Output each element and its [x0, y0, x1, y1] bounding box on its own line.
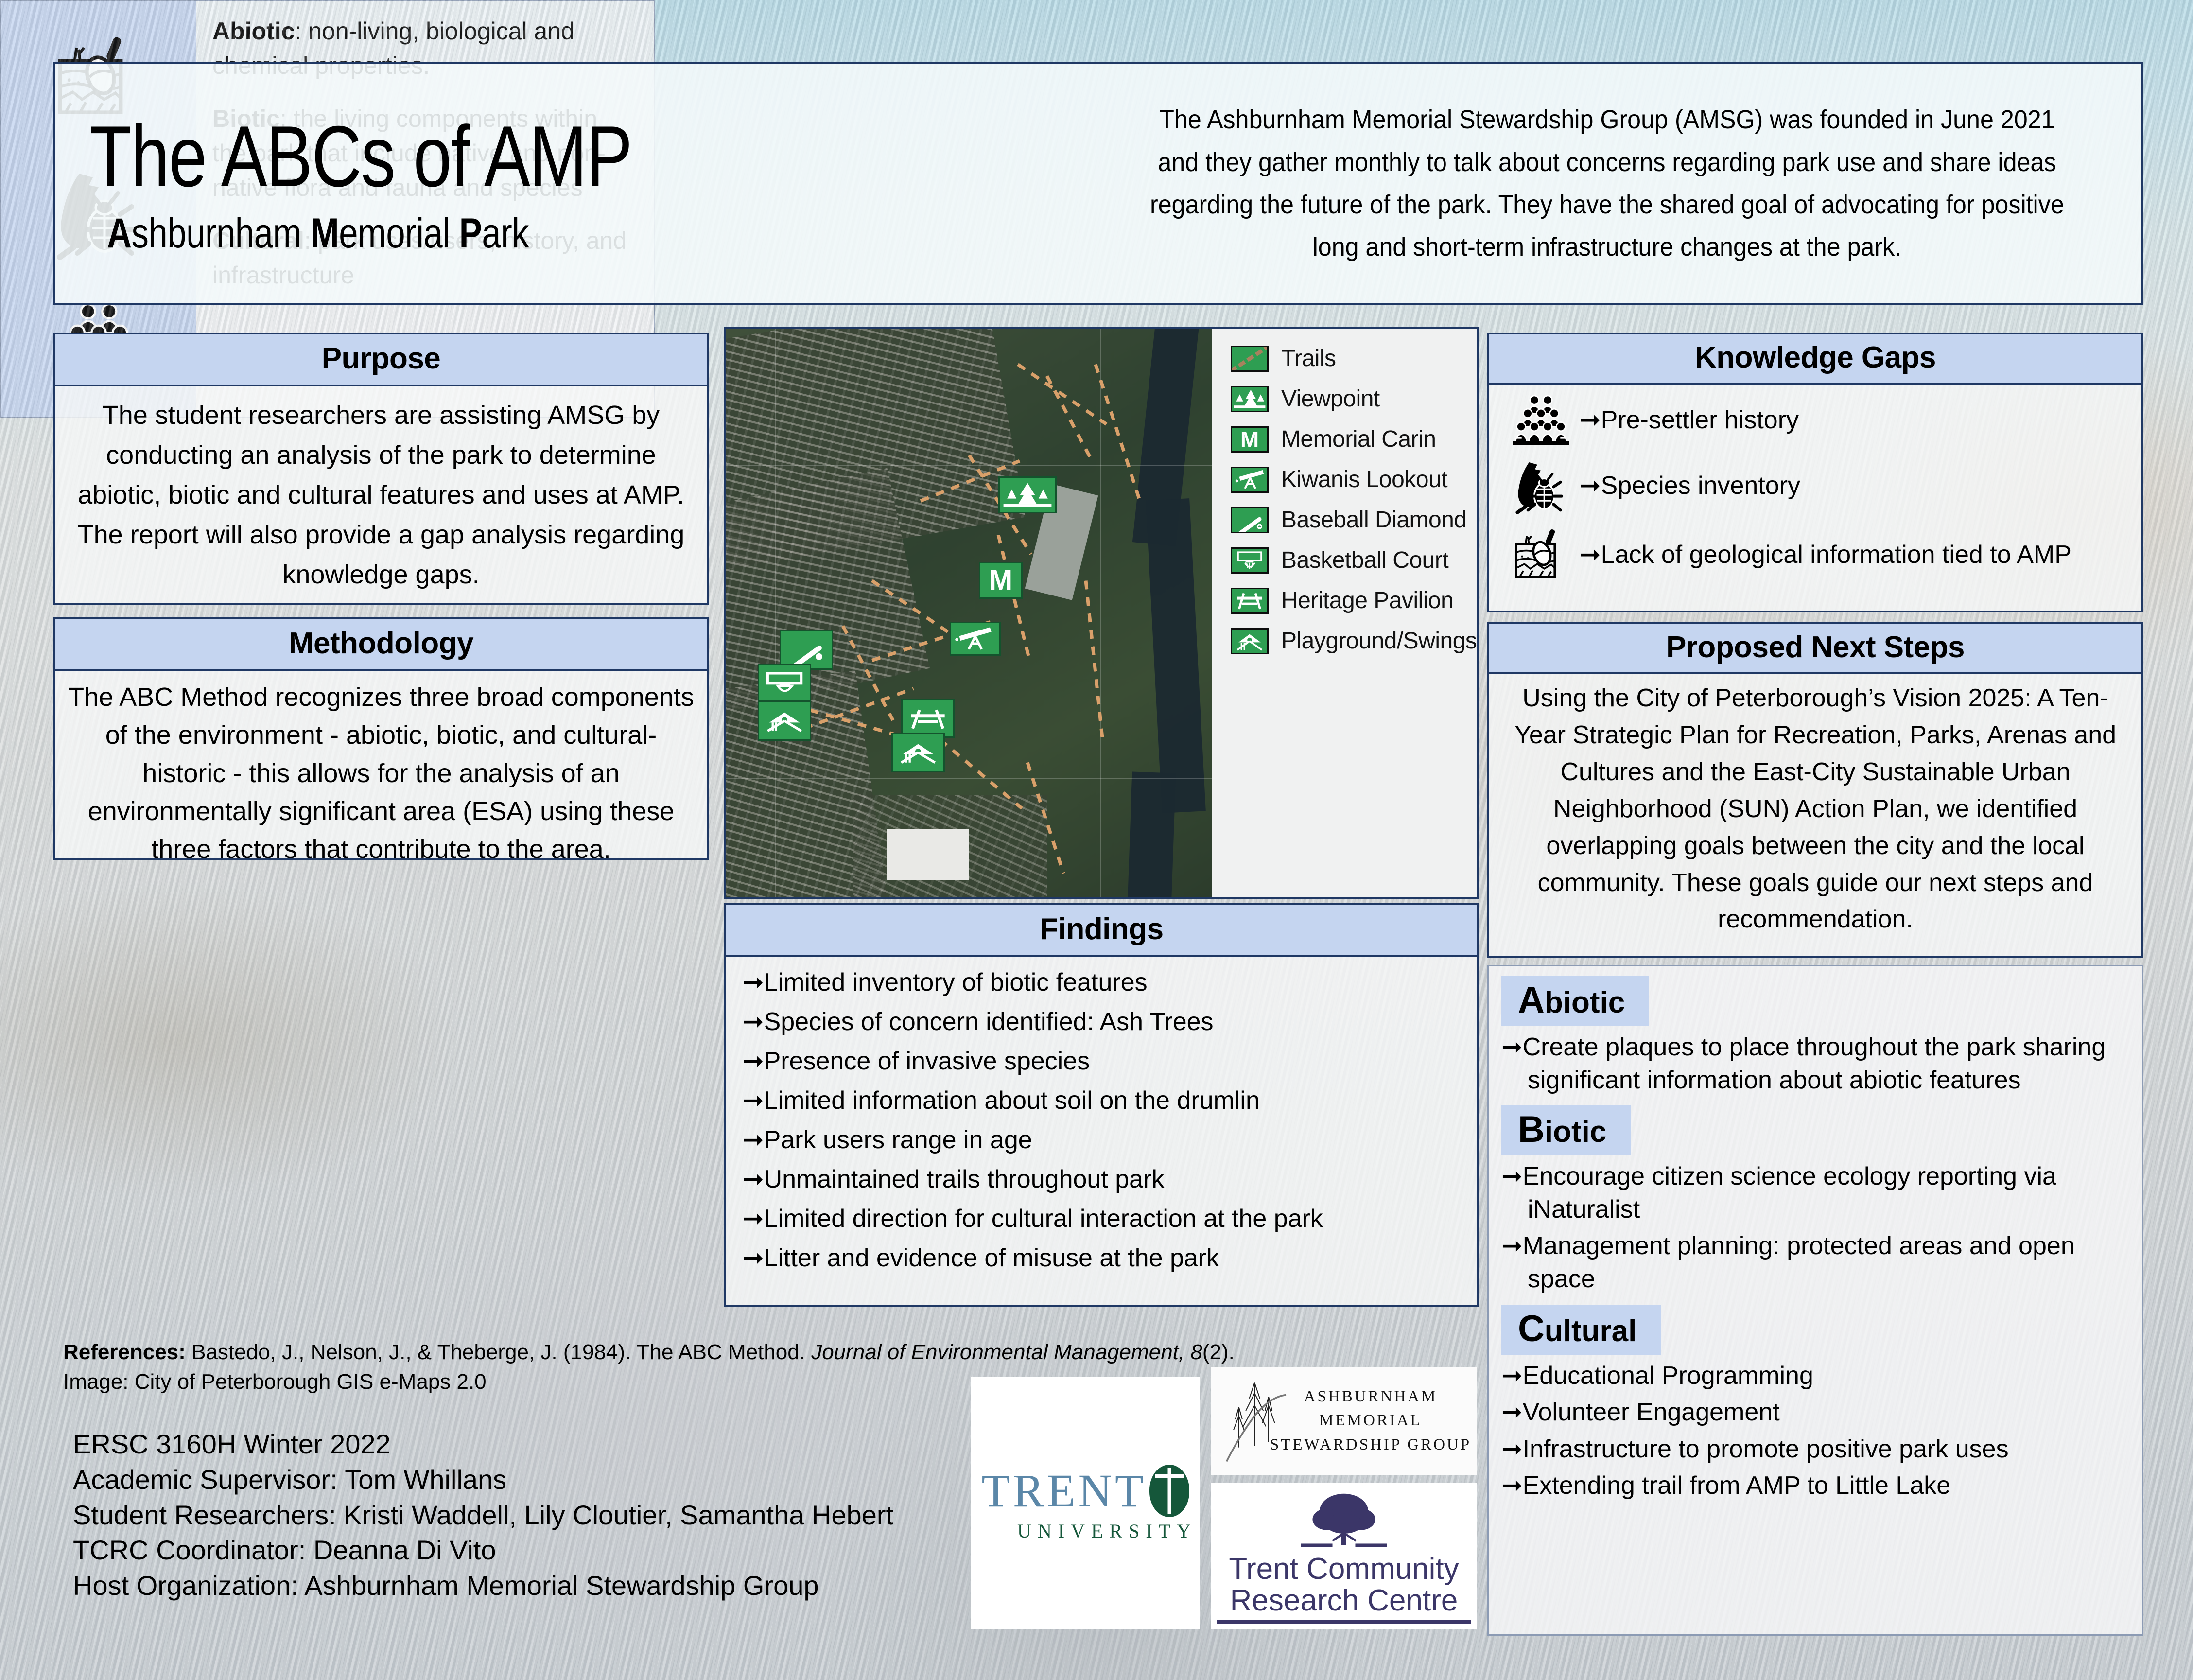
finding-text: Limited direction for cultural interacti… [764, 1205, 1323, 1233]
trent-logo-wordmark: TRENT [981, 1464, 1189, 1518]
reference-citation: References: Bastedo, J., Nelson, J., & T… [63, 1338, 1375, 1367]
list-item: ➞Park users range in age [743, 1127, 1461, 1153]
knowledge-gap-label: Species inventory [1601, 472, 1800, 500]
legend-label: Kiwanis Lookout [1281, 466, 1447, 493]
credit-line-supervisor: Academic Supervisor: Tom Whillans [73, 1462, 1069, 1498]
findings-title: Findings [726, 905, 1477, 957]
list-item: ➞Species of concern identified: Ash Tree… [743, 1009, 1461, 1034]
amsg-logo-text: ASHBURNHAM MEMORIAL STEWARDSHIP GROUP [1265, 1385, 1477, 1457]
findings-list: ➞Limited inventory of biotic features ➞S… [726, 957, 1477, 1271]
map-school-building [887, 829, 969, 880]
tcrc-logo: Trent Community Research Centre [1211, 1483, 1477, 1629]
tcrc-rule [1217, 1620, 1471, 1624]
playground-swing-icon [1231, 628, 1269, 654]
list-item: ➞Extending trail from AMP to Little Lake [1501, 1470, 2129, 1503]
legend-label: Baseball Diamond [1281, 507, 1467, 533]
map-marker-kiwanis-lookout[interactable] [950, 622, 1001, 656]
recommendation-list-biotic: ➞Encourage citizen science ecology repor… [1501, 1160, 2129, 1295]
badge-capital: C [1518, 1308, 1545, 1349]
credit-line-host: Host Organization: Ashburnham Memorial S… [73, 1568, 1069, 1604]
badge-capital: B [1518, 1109, 1545, 1150]
legend-item-kiwanis-lookout: Kiwanis Lookout [1231, 466, 1477, 493]
telescope-icon [1231, 467, 1269, 493]
list-item: ➞Limited inventory of biotic features [743, 970, 1461, 995]
map-gridline [775, 329, 776, 897]
soil-sample-icon [1502, 525, 1580, 584]
knowledge-gap-text: ➞Species inventory [1580, 469, 1800, 503]
amsg-logo: ASHBURNHAM MEMORIAL STEWARDSHIP GROUP [1211, 1367, 1477, 1475]
map-trail [1084, 580, 1105, 745]
knowledge-gap-item: ➞Species inventory [1502, 456, 2129, 515]
status-badge-biotic: Biotic [1501, 1105, 1631, 1155]
finding-text: Litter and evidence of misuse at the par… [764, 1244, 1219, 1272]
recommendation-text: Management planning: protected areas and… [1523, 1232, 2075, 1293]
map-marker-playground-swings[interactable] [758, 701, 811, 741]
tcrc-line-2: Research Centre [1229, 1585, 1459, 1616]
purpose-body: The student researchers are assisting AM… [55, 386, 707, 603]
knowledge-gap-item: ➞Pre-settler history [1502, 394, 2129, 446]
list-item: ➞Encourage citizen science ecology repor… [1501, 1160, 2129, 1226]
map-marker-playground-swings[interactable] [891, 733, 945, 772]
tcrc-logo-text: Trent Community Research Centre [1229, 1554, 1459, 1616]
trent-logo-text: TRENT [981, 1464, 1146, 1518]
purpose-panel: Purpose The student researchers are assi… [53, 332, 709, 605]
list-item: ➞Litter and evidence of misuse at the pa… [743, 1245, 1461, 1271]
list-item: ➞Limited direction for cultural interact… [743, 1206, 1461, 1231]
recommendation-text: Create plaques to place throughout the p… [1523, 1033, 2106, 1094]
list-item: ➞Limited information about soil on the d… [743, 1088, 1461, 1113]
map-legend: Trails Viewpoint M Memorial Carin [1212, 329, 1477, 897]
map-gridline [726, 465, 1212, 466]
finding-text: Limited information about soil on the dr… [764, 1086, 1260, 1115]
knowledge-gap-text: ➞Lack of geological information tied to … [1580, 538, 2071, 572]
basketball-hoop-icon [1231, 547, 1269, 574]
legend-label: Trails [1281, 345, 1336, 372]
finding-text: Park users range in age [764, 1126, 1032, 1154]
map-marker-basketball-court[interactable] [758, 664, 811, 701]
legend-item-memorial-carin: M Memorial Carin [1231, 426, 1477, 453]
methodology-panel: Methodology The ABC Method recognizes th… [53, 617, 709, 860]
subtitle-word-memorial: emorial [339, 210, 459, 257]
legend-label: Basketball Court [1281, 547, 1448, 574]
subtitle-word-park: ark [482, 210, 529, 257]
knowledge-gaps-panel: Knowledge Gaps [1487, 332, 2143, 612]
next-steps-body: Using the City of Peterborough’s Vision … [1489, 674, 2141, 944]
park-map-panel: M [724, 327, 1479, 899]
citation-journal: Journal of Environmental Management, 8 [811, 1340, 1202, 1364]
satellite-map-image: M [726, 329, 1212, 897]
knowledge-gaps-title: Knowledge Gaps [1489, 334, 2141, 385]
beetle-leaf-icon [1502, 456, 1580, 515]
trail-dash-icon [1231, 346, 1269, 372]
legend-item-basketball-court: Basketball Court [1231, 547, 1477, 574]
next-steps-title: Proposed Next Steps [1489, 624, 2141, 674]
legend-item-baseball-diamond: Baseball Diamond [1231, 507, 1477, 533]
title-block: The ABCs of AMP Ashburnham Memorial Park [55, 113, 1091, 254]
credit-line-course: ERSC 3160H Winter 2022 [73, 1427, 1069, 1462]
finding-text: Limited inventory of biotic features [764, 968, 1148, 997]
recommendation-list-cultural: ➞Educational Programming ➞Volunteer Enga… [1501, 1360, 2129, 1503]
references-label: References: [63, 1340, 186, 1364]
knowledge-gaps-body: ➞Pre-settler history ➞Species inventory [1489, 385, 2141, 584]
legend-item-heritage-pavilion: Heritage Pavilion [1231, 587, 1477, 614]
finding-text: Species of concern identified: Ash Trees [764, 1008, 1214, 1036]
trent-logo-subtext: UNIVERSITY [1017, 1520, 1197, 1542]
findings-panel: Findings ➞Limited inventory of biotic fe… [724, 903, 1479, 1307]
map-gridline [726, 778, 1212, 779]
citation-part-a: Bastedo, J., Nelson, J., & Theberge, J. … [186, 1340, 811, 1364]
trees-viewpoint-icon [1231, 386, 1269, 412]
knowledge-gap-item: ➞Lack of geological information tied to … [1502, 525, 2129, 584]
subtitle-cap-m: M [311, 210, 339, 257]
tcrc-tree-icon [1300, 1489, 1388, 1554]
list-item: ➞Create plaques to place throughout the … [1501, 1031, 2129, 1097]
baseball-bat-icon [1231, 507, 1269, 533]
badge-rest: ultural [1545, 1314, 1636, 1348]
map-marker-viewpoint[interactable] [998, 476, 1057, 513]
map-trail [1045, 375, 1094, 462]
next-steps-panel: Proposed Next Steps Using the City of Pe… [1487, 622, 2143, 958]
list-item: ➞Volunteer Engagement [1501, 1396, 2129, 1429]
list-item: ➞Educational Programming [1501, 1360, 2129, 1393]
credits-block: ERSC 3160H Winter 2022 Academic Supervis… [73, 1427, 1069, 1604]
methodology-body: The ABC Method recognizes three broad co… [55, 671, 707, 875]
legend-label: Heritage Pavilion [1281, 587, 1453, 614]
recommendation-text: Volunteer Engagement [1523, 1398, 1780, 1426]
logo-strip: TRENT UNIVERSITY ASHBURNHAM MEMORIAL STE… [971, 1367, 1477, 1629]
status-badge-cultural: Cultural [1501, 1305, 1661, 1355]
map-trail [1017, 363, 1107, 426]
credit-line-researchers: Student Researchers: Kristi Waddell, Lil… [73, 1498, 1069, 1533]
map-river [1146, 498, 1206, 813]
finding-text: Unmaintained trails throughout park [764, 1165, 1165, 1193]
amsg-pine-trees-icon [1224, 1376, 1287, 1463]
tcrc-line-1: Trent Community [1229, 1554, 1459, 1585]
list-item: ➞Management planning: protected areas an… [1501, 1230, 2129, 1295]
trent-leaf-icon [1149, 1465, 1189, 1517]
amsg-line-1: ASHBURNHAM MEMORIAL [1265, 1385, 1477, 1433]
recommendations-panel: Abiotic ➞Create plaques to place through… [1487, 965, 2143, 1636]
recommendation-list-abiotic: ➞Create plaques to place throughout the … [1501, 1031, 2129, 1097]
trent-university-logo: TRENT UNIVERSITY [971, 1377, 1200, 1629]
trent-logo-inner: TRENT UNIVERSITY [974, 1464, 1197, 1542]
subtitle-cap-p: P [459, 210, 482, 257]
badge-rest: biotic [1545, 986, 1625, 1019]
subtitle-word-ashburnham: shburnham [132, 210, 311, 257]
list-item: ➞Presence of invasive species [743, 1049, 1461, 1074]
badge-rest: iotic [1545, 1115, 1606, 1149]
citation-part-b: (2). [1202, 1340, 1235, 1364]
legend-item-trails: Trails [1231, 345, 1477, 372]
recommendation-text: Educational Programming [1523, 1362, 1813, 1390]
legend-item-viewpoint: Viewpoint [1231, 385, 1477, 412]
legend-item-playground-swings: Playground/Swings [1231, 628, 1477, 654]
page-subtitle: Ashburnham Memorial Park [89, 212, 910, 254]
page-title: The ABCs of AMP [89, 113, 890, 200]
knowledge-gap-label: Lack of geological information tied to A… [1601, 541, 2071, 569]
amsg-line-2: STEWARDSHIP GROUP [1265, 1433, 1477, 1457]
definition-term-abiotic: Abiotic [212, 17, 295, 45]
legend-label: Viewpoint [1281, 385, 1380, 412]
subtitle-cap-a: A [107, 210, 132, 257]
map-marker-memorial-carin[interactable]: M [979, 562, 1023, 599]
map-river [1127, 771, 1176, 897]
knowledge-gap-text: ➞Pre-settler history [1580, 403, 1799, 437]
finding-text: Presence of invasive species [764, 1047, 1090, 1075]
badge-capital: A [1518, 980, 1545, 1021]
legend-label: Playground/Swings [1281, 628, 1477, 654]
credit-line-coordinator: TCRC Coordinator: Deanna Di Vito [73, 1533, 1069, 1568]
legend-label: Memorial Carin [1281, 426, 1436, 453]
list-item: ➞Unmaintained trails throughout park [743, 1167, 1461, 1192]
poster-header: The ABCs of AMP Ashburnham Memorial Park… [53, 62, 2143, 305]
letter-m-icon: M [1231, 426, 1269, 453]
recommendation-text: Encourage citizen science ecology report… [1523, 1162, 2056, 1224]
methodology-title: Methodology [55, 619, 707, 671]
knowledge-gap-label: Pre-settler history [1601, 406, 1799, 434]
list-item: ➞Infrastructure to promote positive park… [1501, 1433, 2129, 1466]
crowd-of-people-icon [1502, 394, 1580, 446]
status-badge-abiotic: Abiotic [1501, 976, 1649, 1026]
recommendation-text: Extending trail from AMP to Little Lake [1523, 1471, 1951, 1500]
picnic-table-icon [1231, 588, 1269, 614]
recommendation-text: Infrastructure to promote positive park … [1523, 1435, 2009, 1463]
purpose-title: Purpose [55, 334, 707, 386]
map-gridline [1100, 329, 1101, 897]
header-intro-text: The Ashburnham Memorial Stewardship Grou… [1128, 99, 2105, 269]
